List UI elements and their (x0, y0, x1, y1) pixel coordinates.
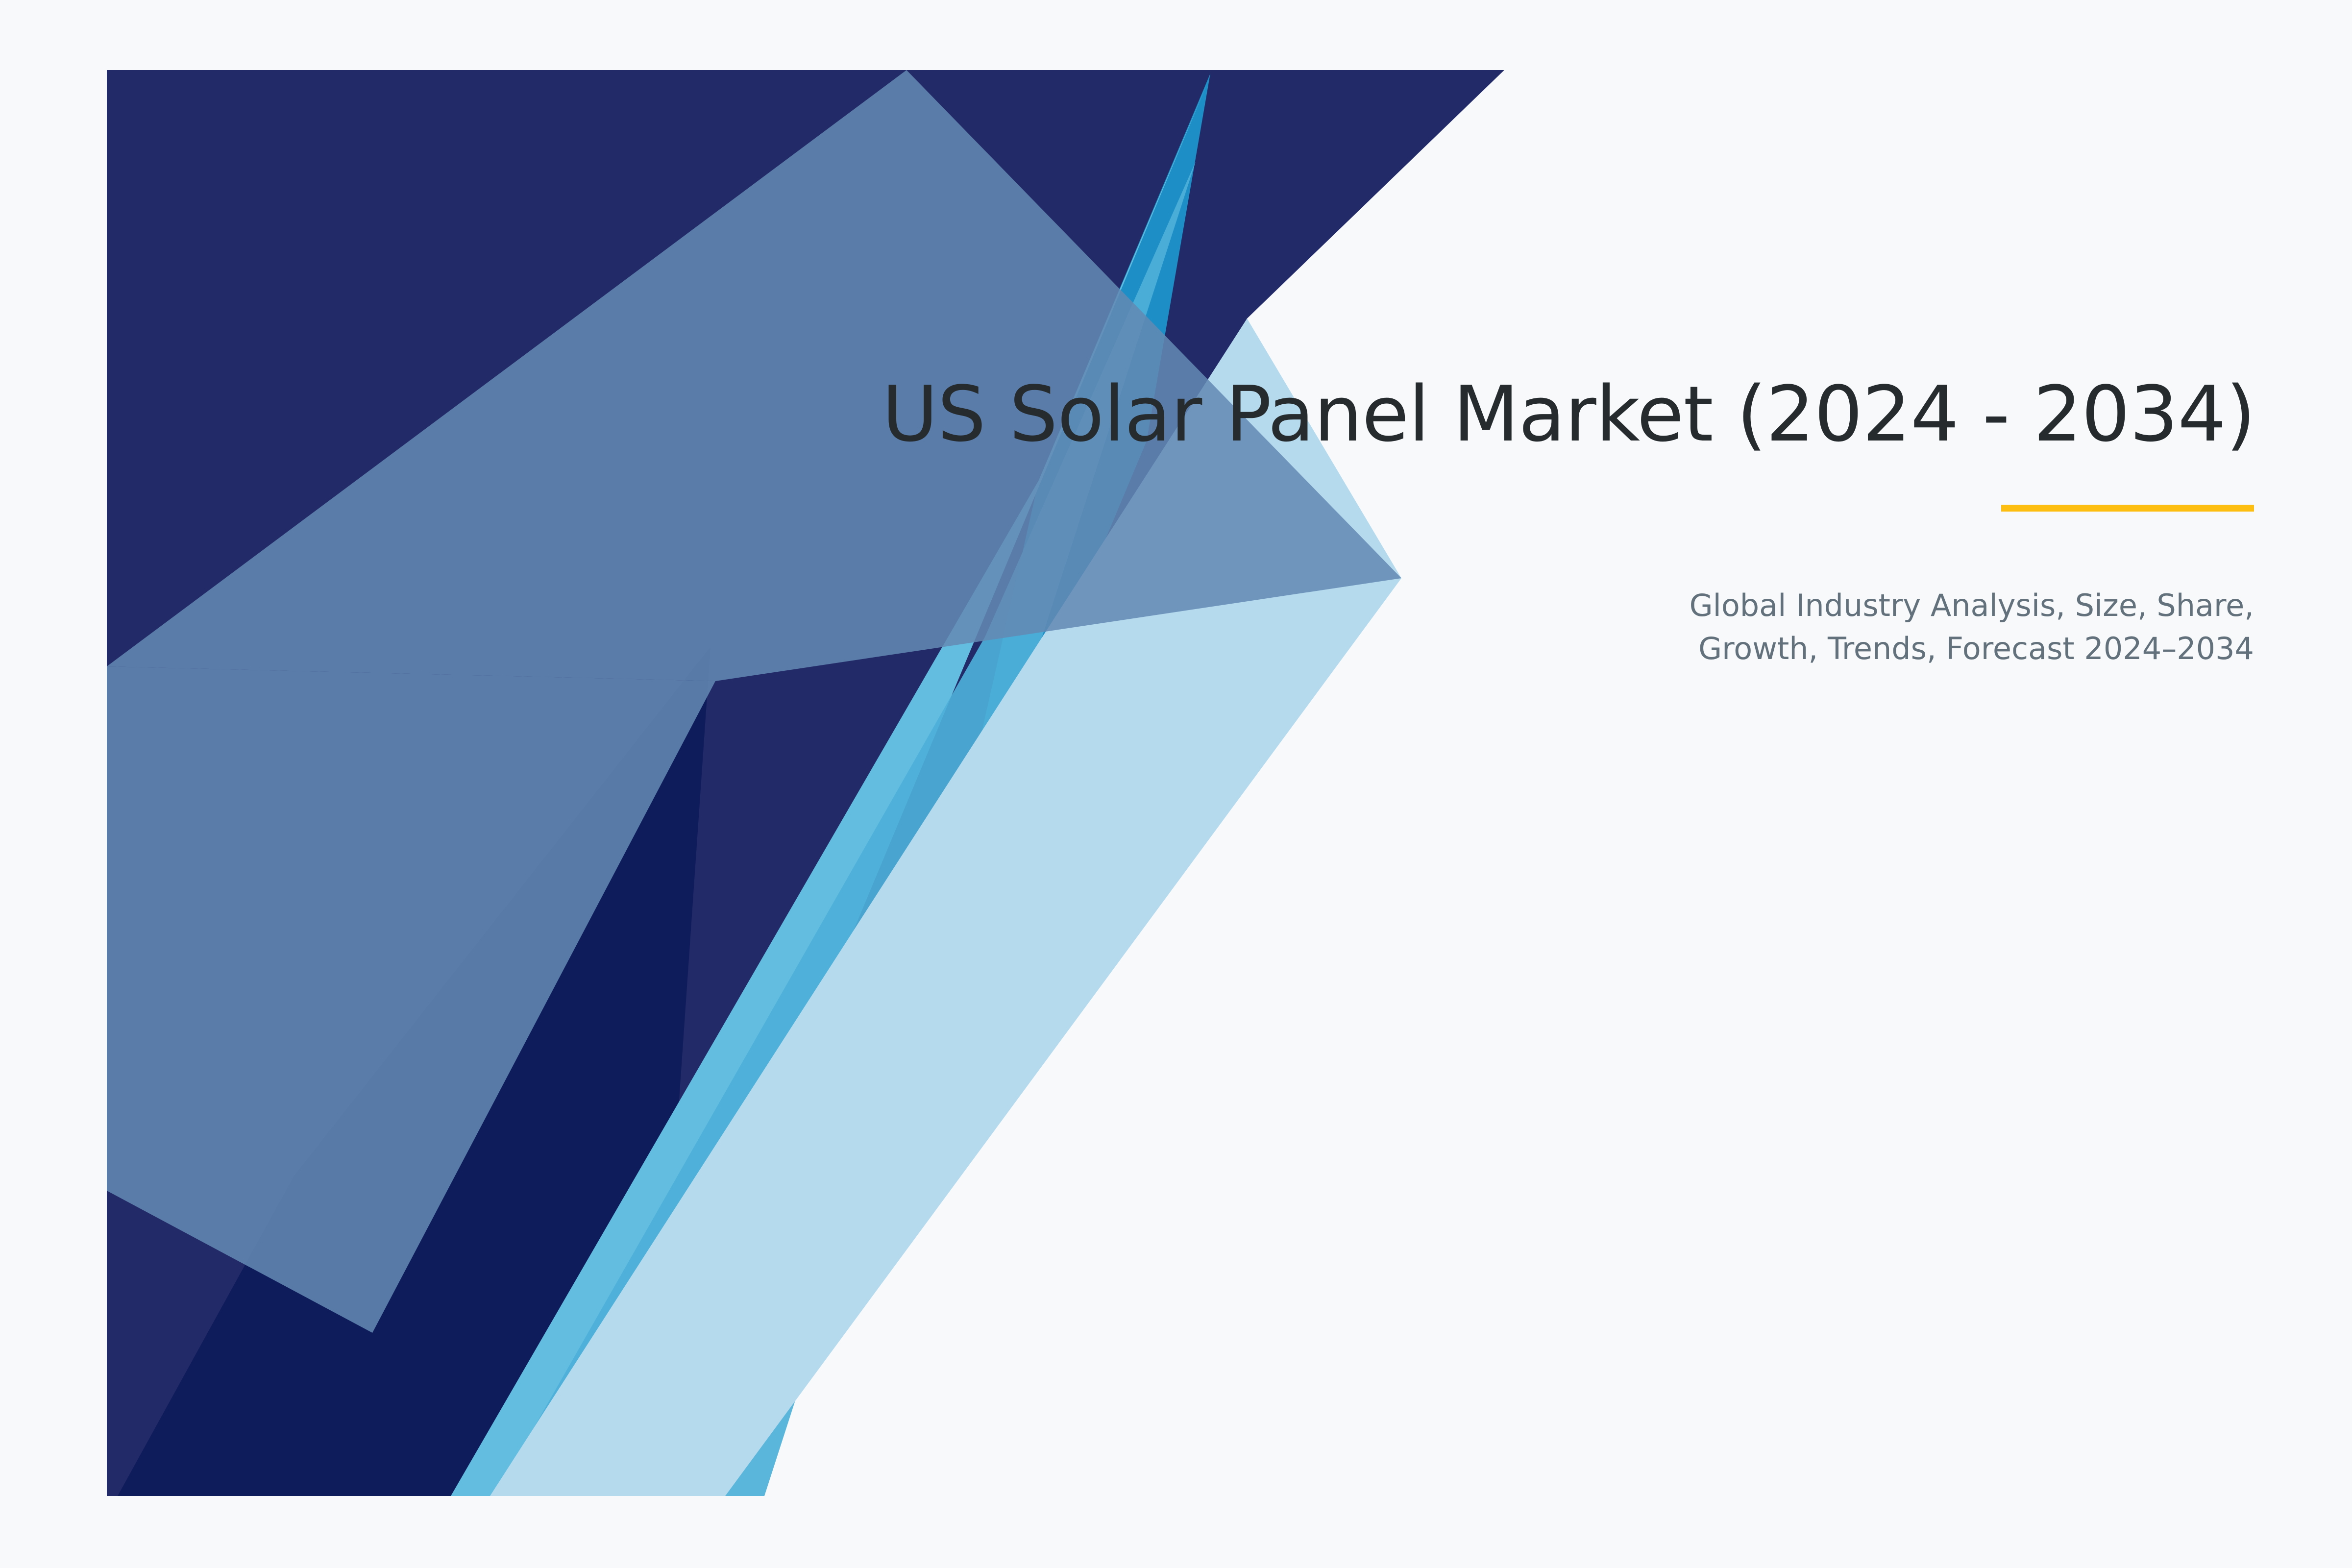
cover-text-block: US Solar Panel Market (2024 - 2034) Glob… (882, 372, 2254, 670)
accent-divider (2001, 505, 2254, 512)
page-subtitle-line-2: Growth, Trends, Forecast 2024–2034 (882, 627, 2254, 670)
page-title: US Solar Panel Market (2024 - 2034) (882, 372, 2254, 457)
accent-divider-wrap (882, 505, 2254, 512)
abstract-geometric-cover-graphic (0, 0, 2352, 1568)
slide-canvas: US Solar Panel Market (2024 - 2034) Glob… (0, 0, 2352, 1568)
page-subtitle-line-1: Global Industry Analysis, Size, Share, (882, 584, 2254, 627)
page-subtitle: Global Industry Analysis, Size, Share, G… (882, 584, 2254, 670)
